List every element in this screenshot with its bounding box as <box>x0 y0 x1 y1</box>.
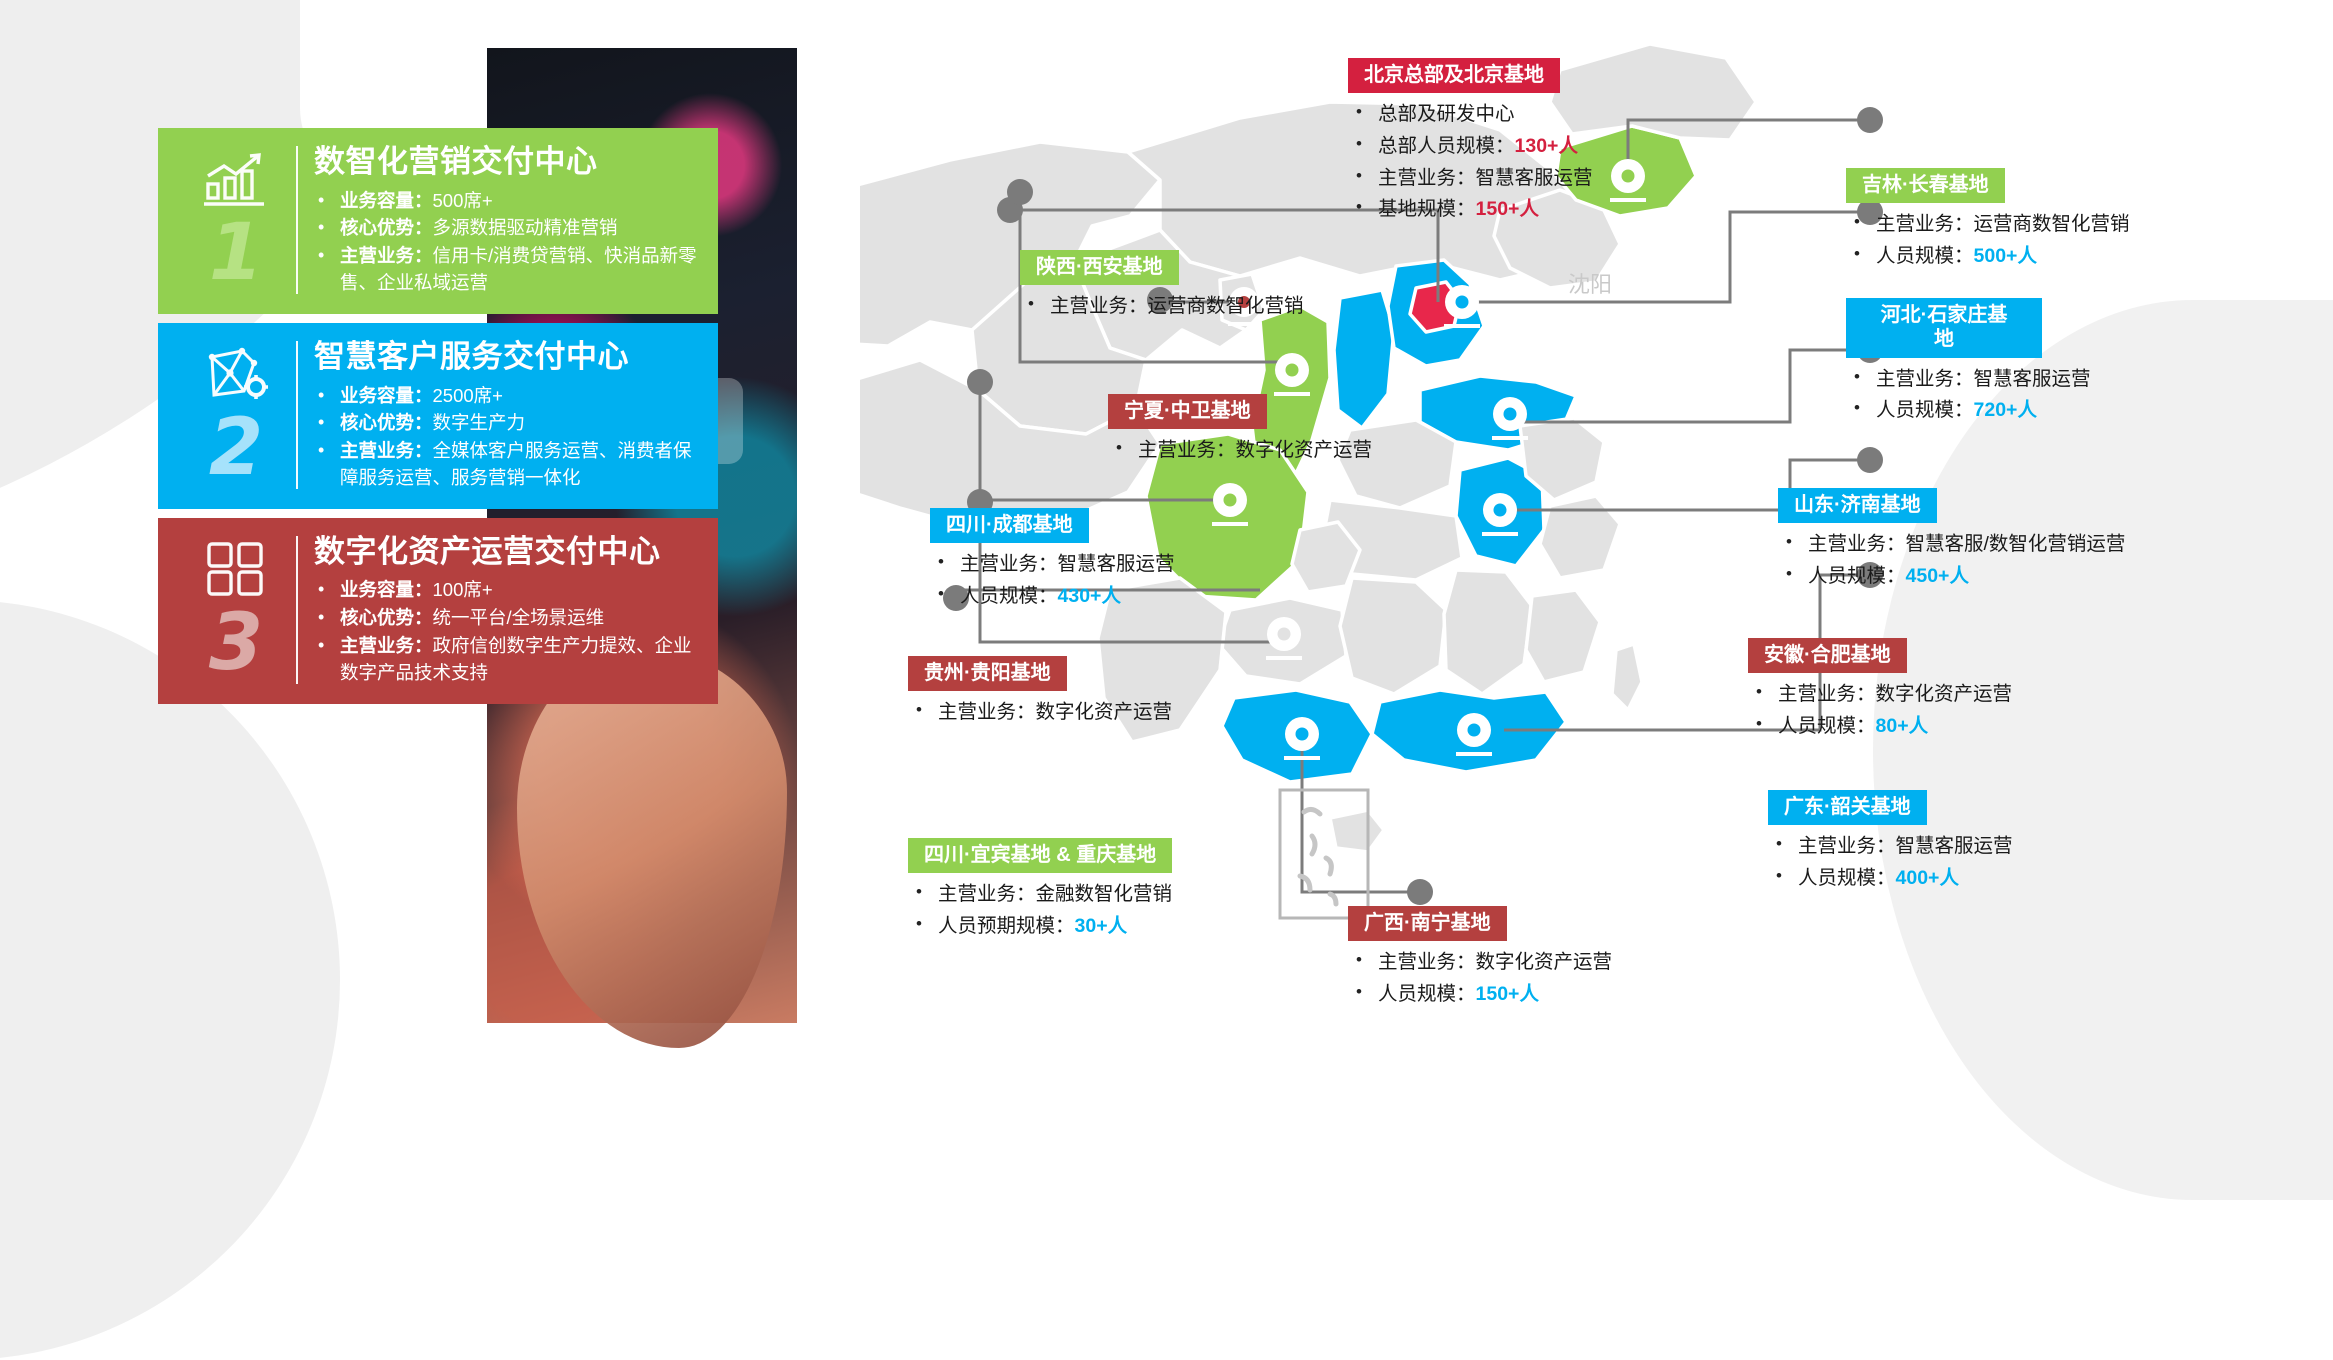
card-digital-asset-operation-center[interactable]: 3 数字化资产运营交付中心 业务容量：100席+ 核心优势：统一平台/全场景运维… <box>158 518 718 704</box>
callout-shandong-line-2: 人员规模：450+人 <box>1778 561 2125 593</box>
card-2-number: 2 <box>209 409 263 487</box>
callout-guizhou-guiyang[interactable]: 贵州·贵阳基地 主营业务：数字化资产运营 <box>908 656 1172 729</box>
dot-guangxi <box>1407 879 1433 905</box>
callout-shaanxi-list: 主营业务：运营商数智化营销 <box>1020 291 1304 323</box>
card-3-number: 3 <box>209 604 263 682</box>
callout-jilin-line-2: 人员规模：500+人 <box>1846 241 2130 273</box>
province-jiangxi <box>1444 570 1532 694</box>
bar-chart-growth-icon <box>200 148 272 210</box>
callout-ningxia-zhongwei[interactable]: 宁夏·中卫基地 主营业务：数字化资产运营 <box>1108 394 1372 467</box>
card-1-item-advantage: 核心优势：多源数据驱动精准营销 <box>314 215 700 242</box>
card-3-item-advantage: 核心优势：统一平台/全场景运维 <box>314 605 700 632</box>
callout-chengdu-line-2: 人员规模：430+人 <box>930 581 1200 613</box>
callout-ningxia-line-1: 主营业务：数字化资产运营 <box>1108 435 1372 467</box>
callout-anhui-line-2: 人员规模：80+人 <box>1748 711 2012 743</box>
callout-shandong-list: 主营业务：智慧客服/数智化营销运营 人员规模：450+人 <box>1778 529 2125 592</box>
card-1-item-capacity: 业务容量：500席+ <box>314 188 700 215</box>
card-2-body: 智慧客户服务交付中心 业务容量：2500席+ 核心优势：数字生产力 主营业务：全… <box>314 337 700 493</box>
dot-anhui <box>1857 447 1883 473</box>
callout-hebei-line-1: 主营业务：智慧客服运营 <box>1846 364 2091 396</box>
callout-anhui-tag: 安徽·合肥基地 <box>1748 638 1907 673</box>
callout-guangxi-list: 主营业务：数字化资产运营 人员规模：150+人 <box>1348 947 1612 1010</box>
callout-hebei-line-2: 人员规模：720+人 <box>1846 395 2091 427</box>
dot-sichuan <box>967 369 993 395</box>
callout-jilin-line-1: 主营业务：运营商数智化营销 <box>1846 209 2130 241</box>
card-2-divider <box>296 341 298 489</box>
card-3-title: 数字化资产运营交付中心 <box>314 534 700 570</box>
callout-ningxia-tag: 宁夏·中卫基地 <box>1108 394 1267 429</box>
card-2-item-advantage: 核心优势：数字生产力 <box>314 410 700 437</box>
background-decor-bottom-left <box>0 600 340 1360</box>
card-1-divider <box>296 146 298 294</box>
card-3-items: 业务容量：100席+ 核心优势：统一平台/全场景运维 主营业务：政府信创数字生产… <box>314 577 700 686</box>
callout-beijing-line-1: 总部及研发中心 <box>1348 99 1593 131</box>
callout-shaanxi-line-1: 主营业务：运营商数智化营销 <box>1020 291 1304 323</box>
card-2-item-business: 主营业务：全媒体客户服务运营、消费者保障服务运营、服务营销一体化 <box>314 438 700 492</box>
card-3-body: 数字化资产运营交付中心 业务容量：100席+ 核心优势：统一平台/全场景运维 主… <box>314 532 700 688</box>
callout-hebei-tag: 河北·石家庄基 地 <box>1846 298 2042 358</box>
callout-anhui-line-1: 主营业务：数字化资产运营 <box>1748 679 2012 711</box>
card-2-left: 2 <box>176 337 296 493</box>
callout-shandong-tag: 山东·济南基地 <box>1778 488 1937 523</box>
callout-shaanxi-tag: 陕西·西安基地 <box>1020 250 1179 285</box>
callout-chengdu-tag: 四川·成都基地 <box>930 508 1089 543</box>
callout-sichuan-chengdu[interactable]: 四川·成都基地 主营业务：智慧客服运营 人员规模：430+人 <box>930 508 1200 613</box>
callout-shandong-line-1: 主营业务：智慧客服/数智化营销运营 <box>1778 529 2125 561</box>
callout-chengdu-line-1: 主营业务：智慧客服运营 <box>930 549 1200 581</box>
callout-guizhou-list: 主营业务：数字化资产运营 <box>908 697 1172 729</box>
callout-guangdong-line-2: 人员规模：400+人 <box>1768 863 2038 895</box>
card-1-left: 1 <box>176 142 296 298</box>
province-hainan <box>1330 810 1384 852</box>
callout-yibin-line-1: 主营业务：金融数智化营销 <box>908 879 1198 911</box>
four-squares-grid-icon <box>200 538 272 600</box>
card-3-divider <box>296 536 298 684</box>
callout-guangxi-line-1: 主营业务：数字化资产运营 <box>1348 947 1612 979</box>
callout-yibin-list: 主营业务：金融数智化营销 人员预期规模：30+人 <box>908 879 1198 942</box>
card-2-items: 业务容量：2500席+ 核心优势：数字生产力 主营业务：全媒体客户服务运营、消费… <box>314 383 700 492</box>
callout-hebei-list: 主营业务：智慧客服运营 人员规模：720+人 <box>1846 364 2091 427</box>
callout-guangxi-nanning[interactable]: 广西·南宁基地 主营业务：数字化资产运营 人员规模：150+人 <box>1348 906 1612 1011</box>
callout-beijing-line-3: 主营业务：智慧客服运营 <box>1348 163 1593 195</box>
card-smart-customer-service-center[interactable]: 2 智慧客户服务交付中心 业务容量：2500席+ 核心优势：数字生产力 主营业务… <box>158 323 718 509</box>
card-1-number: 1 <box>209 214 263 292</box>
callout-yibin-tag: 四川·宜宾基地 & 重庆基地 <box>908 838 1172 873</box>
province-hunan <box>1340 578 1446 694</box>
card-2-title: 智慧客户服务交付中心 <box>314 339 700 375</box>
province-zhejiang <box>1540 496 1620 578</box>
callout-beijing-list: 总部及研发中心 总部人员规模：130+人 主营业务：智慧客服运营 基地规模：15… <box>1348 99 1593 225</box>
card-1-body: 数智化营销交付中心 业务容量：500席+ 核心优势：多源数据驱动精准营销 主营业… <box>314 142 700 298</box>
callout-guizhou-line-1: 主营业务：数字化资产运营 <box>908 697 1172 729</box>
callout-beijing[interactable]: 北京总部及北京基地 总部及研发中心 总部人员规模：130+人 主营业务：智慧客服… <box>1348 58 1593 226</box>
callout-guangdong-tag: 广东·韶关基地 <box>1768 790 1927 825</box>
callout-jilin-tag: 吉林·长春基地 <box>1846 168 2005 203</box>
card-3-item-capacity: 业务容量：100席+ <box>314 577 700 604</box>
map-label-shenyang: 沈阳 <box>1568 272 1612 297</box>
callout-guangdong-line-1: 主营业务：智慧客服运营 <box>1768 831 2038 863</box>
card-digital-marketing-center[interactable]: 1 数智化营销交付中心 业务容量：500席+ 核心优势：多源数据驱动精准营销 主… <box>158 128 718 314</box>
card-1-item-business: 主营业务：信用卡/消费贷营销、快消品新零售、企业私域运营 <box>314 243 700 297</box>
network-cube-gear-icon <box>200 343 272 405</box>
callout-chengdu-list: 主营业务：智慧客服运营 人员规模：430+人 <box>930 549 1200 612</box>
dot-jilin <box>1857 107 1883 133</box>
callout-hebei-shijiazhuang[interactable]: 河北·石家庄基 地 主营业务：智慧客服运营 人员规模：720+人 <box>1846 298 2091 427</box>
callout-jilin-list: 主营业务：运营商数智化营销 人员规模：500+人 <box>1846 209 2130 272</box>
callout-guangxi-line-2: 人员规模：150+人 <box>1348 979 1612 1011</box>
callout-beijing-line-4: 基地规模：150+人 <box>1348 194 1593 226</box>
callout-shaanxi-xian[interactable]: 陕西·西安基地 主营业务：运营商数智化营销 <box>1020 250 1304 323</box>
card-3-left: 3 <box>176 532 296 688</box>
callout-jilin-changchun[interactable]: 吉林·长春基地 主营业务：运营商数智化营销 人员规模：500+人 <box>1846 168 2130 273</box>
card-1-title: 数智化营销交付中心 <box>314 144 700 180</box>
callout-anhui-list: 主营业务：数字化资产运营 人员规模：80+人 <box>1748 679 2012 742</box>
card-3-item-business: 主营业务：政府信创数字生产力提效、企业数字产品技术支持 <box>314 633 700 687</box>
callout-guangdong-shaoguan[interactable]: 广东·韶关基地 主营业务：智慧客服运营 人员规模：400+人 <box>1768 790 2038 895</box>
callout-shandong-jinan[interactable]: 山东·济南基地 主营业务：智慧客服/数智化营销运营 人员规模：450+人 <box>1778 488 2125 593</box>
callout-guangdong-list: 主营业务：智慧客服运营 人员规模：400+人 <box>1768 831 2038 894</box>
delivery-center-card-list: 1 数智化营销交付中心 业务容量：500席+ 核心优势：多源数据驱动精准营销 主… <box>158 128 718 713</box>
dot-shaanxi <box>1007 179 1033 205</box>
callout-anhui-hefei[interactable]: 安徽·合肥基地 主营业务：数字化资产运营 人员规模：80+人 <box>1748 638 2012 743</box>
callout-ningxia-list: 主营业务：数字化资产运营 <box>1108 435 1372 467</box>
province-taiwan <box>1612 644 1642 710</box>
card-1-items: 业务容量：500席+ 核心优势：多源数据驱动精准营销 主营业务：信用卡/消费贷营… <box>314 188 700 297</box>
south-china-sea-inset <box>1280 790 1368 918</box>
callout-beijing-tag: 北京总部及北京基地 <box>1348 58 1560 93</box>
callout-beijing-line-2: 总部人员规模：130+人 <box>1348 131 1593 163</box>
callout-guangxi-tag: 广西·南宁基地 <box>1348 906 1507 941</box>
card-2-item-capacity: 业务容量：2500席+ <box>314 383 700 410</box>
callout-yibin-line-2: 人员预期规模：30+人 <box>908 911 1198 943</box>
callout-guizhou-tag: 贵州·贵阳基地 <box>908 656 1067 691</box>
province-fujian <box>1526 590 1600 682</box>
callout-sichuan-yibin-chongqing[interactable]: 四川·宜宾基地 & 重庆基地 主营业务：金融数智化营销 人员预期规模：30+人 <box>908 838 1198 943</box>
